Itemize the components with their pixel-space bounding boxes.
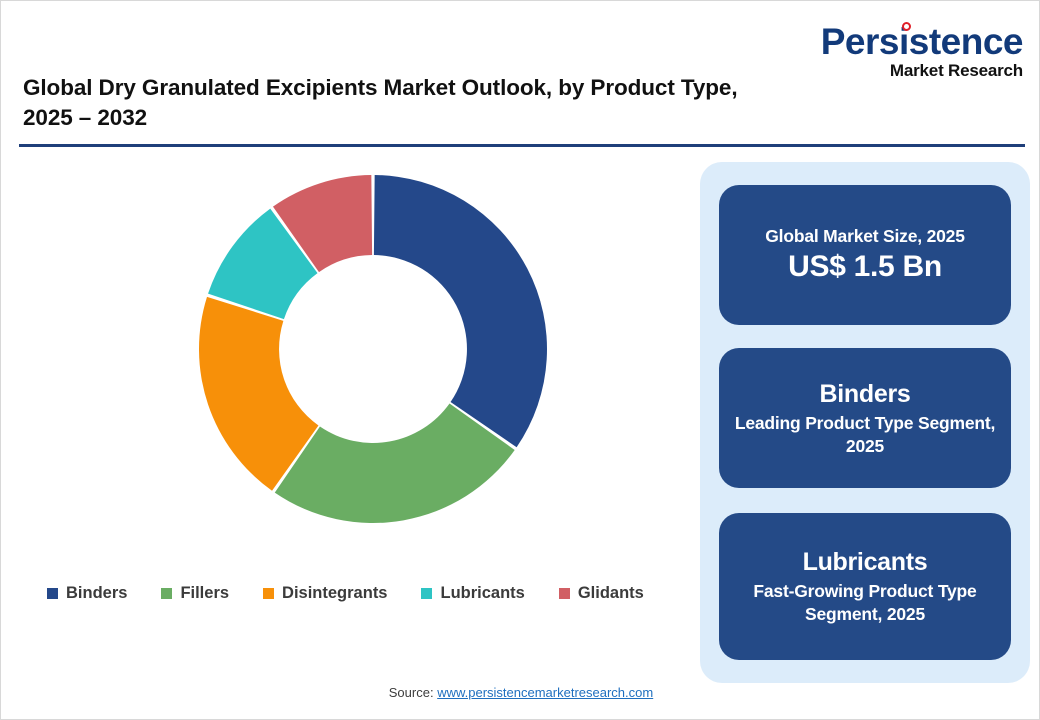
legend-swatch-icon: [559, 588, 570, 599]
kpi-card-1-heading: Binders: [820, 379, 911, 409]
infographic-page: Persistence Market Research Global Dry G…: [0, 0, 1040, 720]
legend-item-fillers[interactable]: Fillers: [161, 584, 229, 603]
legend-swatch-icon: [161, 588, 172, 599]
kpi-card-2-sub: Fast-Growing Product Type Segment, 2025: [719, 580, 1011, 626]
legend-swatch-icon: [47, 588, 58, 599]
brand-logo-word-text: Persistence: [821, 21, 1023, 62]
legend-item-lubricants[interactable]: Lubricants: [421, 584, 524, 603]
kpi-card-leading-segment: Binders Leading Product Type Segment, 20…: [719, 348, 1011, 488]
legend-swatch-icon: [421, 588, 432, 599]
legend-item-label: Lubricants: [440, 584, 524, 603]
source-label: Source:: [389, 685, 437, 700]
legend-item-label: Binders: [66, 584, 127, 603]
donut-chart: [198, 174, 548, 524]
legend-item-label: Fillers: [180, 584, 229, 603]
kpi-card-0-label: Global Market Size, 2025: [765, 225, 964, 247]
legend-swatch-icon: [263, 588, 274, 599]
legend-item-binders[interactable]: Binders: [47, 584, 127, 603]
brand-logo-tagline: Market Research: [821, 62, 1023, 79]
legend-item-label: Glidants: [578, 584, 644, 603]
chart-area: [19, 161, 689, 561]
chart-legend: BindersFillersDisintegrantsLubricantsGli…: [47, 584, 644, 603]
kpi-card-2-heading: Lubricants: [803, 547, 928, 577]
source-footer: Source: www.persistencemarketresearch.co…: [1, 685, 1040, 700]
source-link[interactable]: www.persistencemarketresearch.com: [437, 685, 653, 700]
kpi-card-market-size: Global Market Size, 2025 US$ 1.5 Bn: [719, 185, 1011, 325]
kpi-card-fastest-growing-segment: Lubricants Fast-Growing Product Type Seg…: [719, 513, 1011, 660]
page-title: Global Dry Granulated Excipients Market …: [23, 73, 783, 133]
legend-item-label: Disintegrants: [282, 584, 387, 603]
legend-item-glidants[interactable]: Glidants: [559, 584, 644, 603]
donut-chart-svg: [198, 174, 548, 524]
legend-item-disintegrants[interactable]: Disintegrants: [263, 584, 387, 603]
brand-logo: Persistence Market Research: [821, 23, 1023, 79]
brand-logo-wordmark: Persistence: [821, 23, 1023, 60]
kpi-card-0-value: US$ 1.5 Bn: [788, 249, 942, 285]
title-divider: [19, 144, 1025, 147]
donut-slice-binders[interactable]: [374, 175, 547, 447]
brand-logo-dot-icon: [902, 22, 911, 31]
kpi-side-panel: Global Market Size, 2025 US$ 1.5 Bn Bind…: [700, 162, 1030, 683]
kpi-card-1-sub: Leading Product Type Segment, 2025: [719, 412, 1011, 458]
